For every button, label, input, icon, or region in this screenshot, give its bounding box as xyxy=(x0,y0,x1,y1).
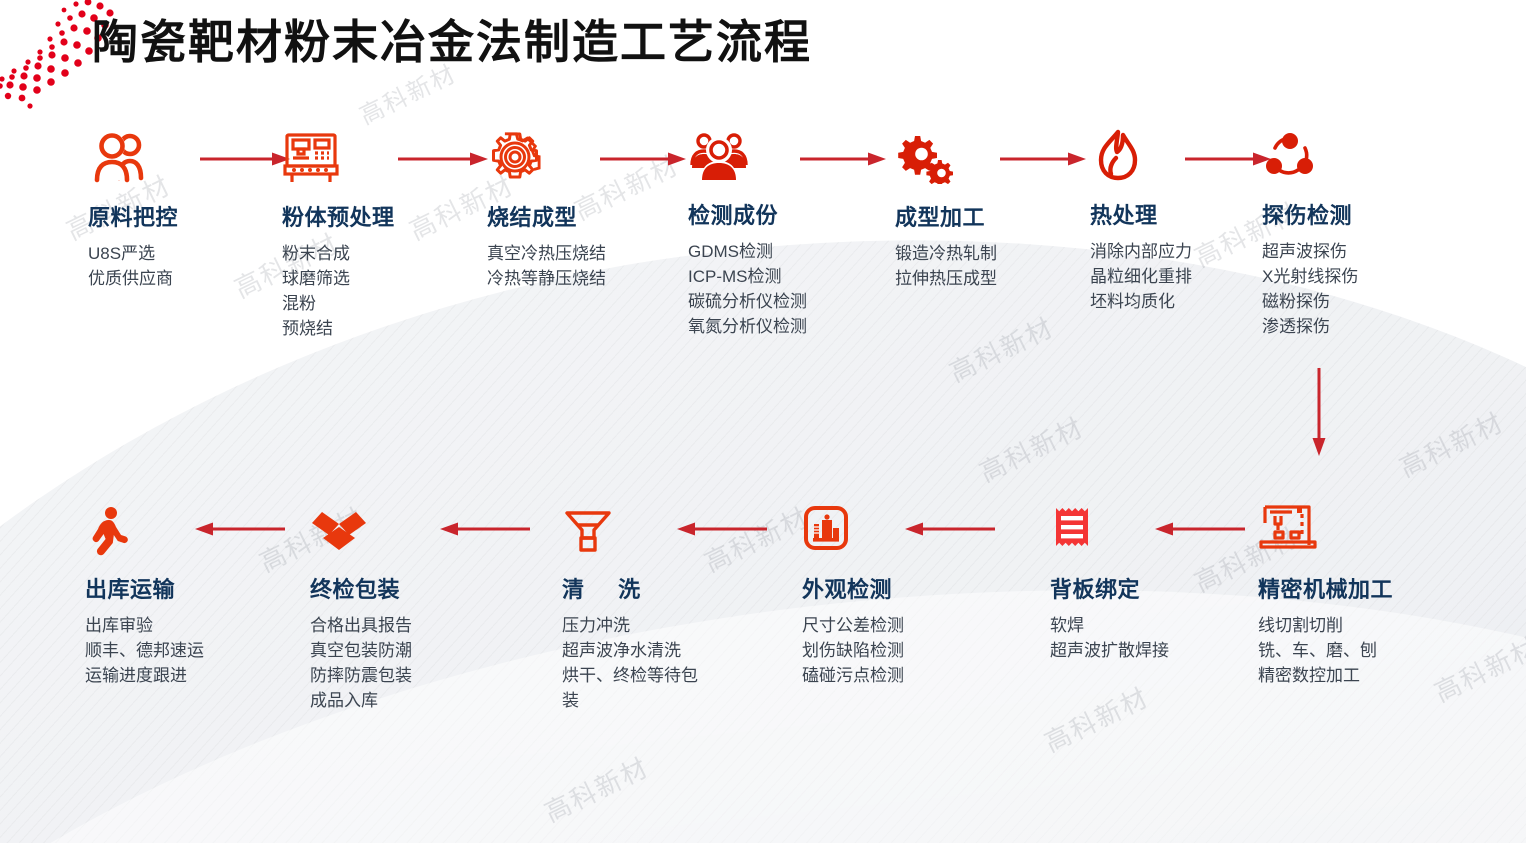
step-title: 原料把控 xyxy=(88,200,178,232)
watermark: 高科新材 xyxy=(1038,677,1155,759)
detail-line: 成品入库 xyxy=(310,688,412,713)
watermark: 高科新材 xyxy=(943,307,1060,389)
step-appearance-inspection[interactable]: 外观检测 尺寸公差检测 划伤缺陷检测 磕碰污点检测 xyxy=(802,500,904,688)
detail-line: 线切割切削 xyxy=(1258,613,1393,638)
detail-line: GDMS检测 xyxy=(688,239,807,264)
three-dots-cycle-icon xyxy=(1262,126,1358,182)
detail-line: 压力冲洗 xyxy=(562,613,712,638)
step-title: 清 洗 xyxy=(562,572,712,604)
detail-line: 混粉 xyxy=(282,291,395,316)
detail-line: 真空包装防潮 xyxy=(310,638,412,663)
detail-line: 超声波探伤 xyxy=(1262,239,1358,264)
watermark: 高科新材 xyxy=(1428,627,1526,709)
detail-line: 碳硫分析仪检测 xyxy=(688,289,807,314)
arrow-right-6 xyxy=(1185,152,1271,166)
step-precision-machining[interactable]: 精密机械加工 线切割切削 铣、车、磨、刨 精密数控加工 xyxy=(1258,500,1393,688)
step-heat-treatment[interactable]: 热处理 消除内部应力 晶粒细化重排 坯料均质化 xyxy=(1090,126,1192,314)
step-title: 粉体预处理 xyxy=(282,200,395,232)
arrow-left-5 xyxy=(190,522,285,536)
step-title: 外观检测 xyxy=(802,572,904,604)
detail-line: 优质供应商 xyxy=(88,266,178,291)
funnel-icon xyxy=(562,500,712,556)
step-title: 烧结成型 xyxy=(487,200,606,232)
gear-rings-icon xyxy=(487,128,606,184)
detail-line: 冷热等静压烧结 xyxy=(487,266,606,291)
step-details: 压力冲洗 超声波净水清洗 烘干、终检等待包装 xyxy=(562,613,712,713)
detail-line: 出库审验 xyxy=(85,613,204,638)
detail-line: 尺寸公差检测 xyxy=(802,613,904,638)
step-composition-testing[interactable]: 检测成份 GDMS检测 ICP-MS检测 碳硫分析仪检测 氧氮分析仪检测 xyxy=(688,126,807,339)
detail-line: 烘干、终检等待包装 xyxy=(562,663,712,713)
detail-line: 磁粉探伤 xyxy=(1262,289,1358,314)
detail-line: 合格出具报告 xyxy=(310,613,412,638)
detail-line: 坯料均质化 xyxy=(1090,289,1192,314)
open-box-icon xyxy=(310,500,412,556)
watermark: 高科新材 xyxy=(538,747,655,829)
step-title: 出库运输 xyxy=(85,572,204,604)
arrow-right-3 xyxy=(600,152,686,166)
step-final-inspection-packaging[interactable]: 终检包装 合格出具报告 真空包装防潮 防摔防震包装 成品入库 xyxy=(310,500,412,713)
detail-line: 球磨筛选 xyxy=(282,266,395,291)
walking-person-icon xyxy=(85,500,204,556)
detail-line: 拉伸热压成型 xyxy=(895,266,997,291)
detail-line: 划伤缺陷检测 xyxy=(802,638,904,663)
detail-line: 精密数控加工 xyxy=(1258,663,1393,688)
detail-line: 运输进度跟进 xyxy=(85,663,204,688)
detail-line: 真空冷热压烧结 xyxy=(487,241,606,266)
press-machine-icon xyxy=(282,128,395,184)
arrow-right-1 xyxy=(200,152,290,166)
step-title: 检测成份 xyxy=(688,198,807,230)
receipt-icon xyxy=(1050,500,1169,556)
step-backplate-bonding[interactable]: 背板绑定 软焊 超声波扩散焊接 xyxy=(1050,500,1169,663)
two-gears-icon xyxy=(895,128,997,184)
detail-line: 氧氮分析仪检测 xyxy=(688,314,807,339)
arrow-right-4 xyxy=(800,152,886,166)
people-group-icon xyxy=(688,126,807,182)
step-powder-pretreatment[interactable]: 粉体预处理 粉末合成 球磨筛选 混粉 预烧结 xyxy=(282,128,395,341)
detail-line: 预烧结 xyxy=(282,316,395,341)
step-details: 出库审验 顺丰、德邦速运 运输进度跟进 xyxy=(85,613,204,688)
arrow-left-4 xyxy=(435,522,530,536)
detail-line: 铣、车、磨、刨 xyxy=(1258,638,1393,663)
step-title: 热处理 xyxy=(1090,198,1192,230)
watermark: 高科新材 xyxy=(1393,402,1510,484)
detail-line: 顺丰、德邦速运 xyxy=(85,638,204,663)
detail-line: 超声波净水清洗 xyxy=(562,638,712,663)
detail-line: 锻造冷热轧制 xyxy=(895,241,997,266)
process-flow-diagram: 高科新材 高科新材 高科新材 高科新材 高科新材 高科新材 高科新材 高科新材 … xyxy=(0,0,1526,843)
step-sintering-forming[interactable]: 烧结成型 真空冷热压烧结 冷热等静压烧结 xyxy=(487,128,606,291)
step-details: 真空冷热压烧结 冷热等静压烧结 xyxy=(487,241,606,291)
step-details: U8S严选 优质供应商 xyxy=(88,241,178,291)
page-title: 陶瓷靶材粉末冶金法制造工艺流程 xyxy=(92,6,812,72)
detail-line: 磕碰污点检测 xyxy=(802,663,904,688)
arrow-left-2 xyxy=(900,522,995,536)
step-title: 终检包装 xyxy=(310,572,412,604)
watermark: 高科新材 xyxy=(973,407,1090,489)
step-flaw-detection[interactable]: 探伤检测 超声波探伤 X光射线探伤 磁粉探伤 渗透探伤 xyxy=(1262,126,1358,339)
detail-line: 防摔防震包装 xyxy=(310,663,412,688)
step-details: 粉末合成 球磨筛选 混粉 预烧结 xyxy=(282,241,395,341)
step-outbound-transport[interactable]: 出库运输 出库审验 顺丰、德邦速运 运输进度跟进 xyxy=(85,500,204,688)
detail-line: X光射线探伤 xyxy=(1262,264,1358,289)
two-people-icon xyxy=(88,128,178,184)
flame-icon xyxy=(1090,126,1192,182)
detail-line: 消除内部应力 xyxy=(1090,239,1192,264)
arrow-right-5 xyxy=(1000,152,1086,166)
step-raw-material-control[interactable]: 原料把控 U8S严选 优质供应商 xyxy=(88,128,178,291)
detail-line: 晶粒细化重排 xyxy=(1090,264,1192,289)
step-title: 精密机械加工 xyxy=(1258,572,1393,604)
arrow-down-connector xyxy=(1311,368,1327,382)
arrow-right-2 xyxy=(398,152,488,166)
step-details: 尺寸公差检测 划伤缺陷检测 磕碰污点检测 xyxy=(802,613,904,688)
step-title: 背板绑定 xyxy=(1050,572,1169,604)
step-title: 成型加工 xyxy=(895,200,997,232)
detail-line: 粉末合成 xyxy=(282,241,395,266)
detail-line: 软焊 xyxy=(1050,613,1169,638)
step-details: 锻造冷热轧制 拉伸热压成型 xyxy=(895,241,997,291)
detail-line: 渗透探伤 xyxy=(1262,314,1358,339)
cnc-machine-icon xyxy=(1258,500,1393,556)
step-details: GDMS检测 ICP-MS检测 碳硫分析仪检测 氧氮分析仪检测 xyxy=(688,239,807,339)
step-cleaning[interactable]: 清 洗 压力冲洗 超声波净水清洗 烘干、终检等待包装 xyxy=(562,500,712,713)
step-details: 合格出具报告 真空包装防潮 防摔防震包装 成品入库 xyxy=(310,613,412,713)
detail-line: ICP-MS检测 xyxy=(688,264,807,289)
step-title: 探伤检测 xyxy=(1262,198,1358,230)
watermark: 高科新材 xyxy=(698,497,815,579)
detail-line: 超声波扩散焊接 xyxy=(1050,638,1169,663)
step-details: 软焊 超声波扩散焊接 xyxy=(1050,613,1169,663)
factory-badge-icon xyxy=(802,500,904,556)
detail-line: U8S严选 xyxy=(88,241,178,266)
step-details: 超声波探伤 X光射线探伤 磁粉探伤 渗透探伤 xyxy=(1262,239,1358,339)
step-forming-processing[interactable]: 成型加工 锻造冷热轧制 拉伸热压成型 xyxy=(895,128,997,291)
step-details: 消除内部应力 晶粒细化重排 坯料均质化 xyxy=(1090,239,1192,314)
step-details: 线切割切削 铣、车、磨、刨 精密数控加工 xyxy=(1258,613,1393,688)
